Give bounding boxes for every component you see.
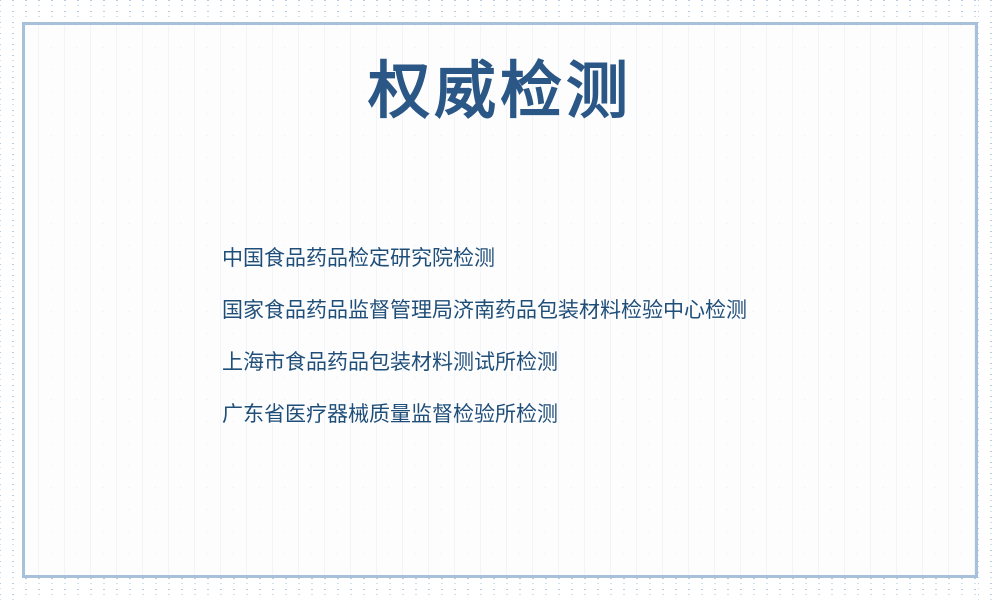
- chevron-border-top: [0, 0, 1000, 22]
- list-item: 上海市食品药品包装材料测试所检测: [222, 352, 747, 373]
- title-container: 权威检测: [0, 55, 1000, 126]
- list-item: 国家食品药品监督管理局济南药品包装材料检验中心检测: [222, 300, 747, 321]
- list-item: 中国食品药品检定研究院检测: [222, 248, 747, 269]
- promo-banner: 权威检测 中国食品药品检定研究院检测 国家食品药品监督管理局济南药品包装材料检验…: [0, 0, 1000, 600]
- list-item: 广东省医疗器械质量监督检验所检测: [222, 404, 747, 425]
- certification-list: 中国食品药品检定研究院检测 国家食品药品监督管理局济南药品包装材料检验中心检测 …: [222, 248, 747, 425]
- page-title: 权威检测: [368, 55, 632, 126]
- chevron-border-bottom: [0, 578, 1000, 600]
